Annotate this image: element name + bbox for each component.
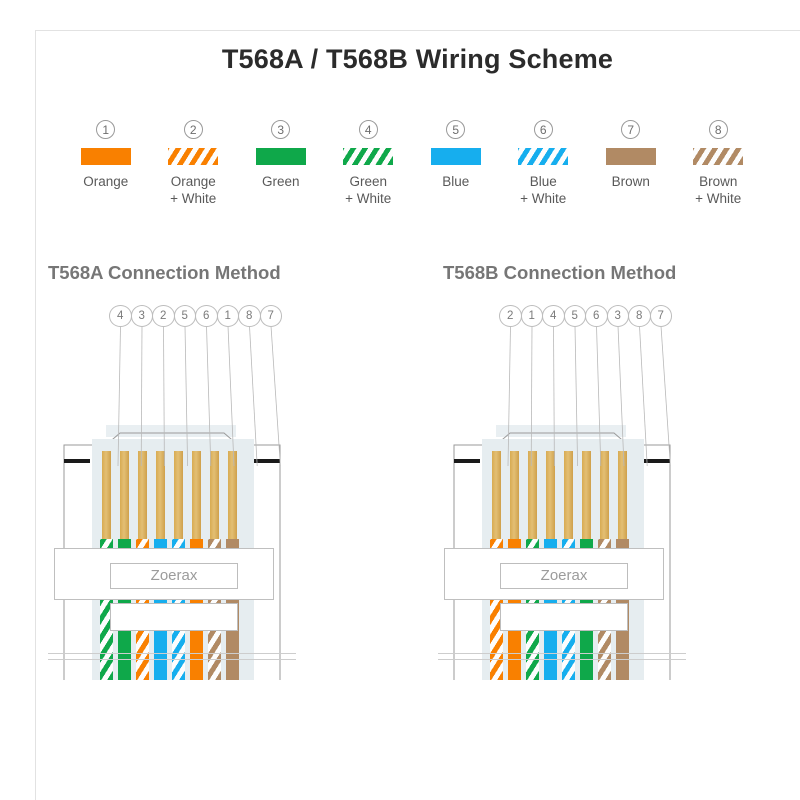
legend-item-2: 2Orange + White bbox=[150, 120, 238, 207]
color-legend: 1Orange2Orange + White3Green4Green + Whi… bbox=[62, 120, 762, 207]
legend-number-badge: 1 bbox=[96, 120, 115, 139]
legend-color-swatch bbox=[606, 148, 656, 165]
cable-sheath bbox=[500, 603, 628, 631]
legend-color-swatch bbox=[343, 148, 393, 165]
legend-item-4: 4Green + White bbox=[325, 120, 413, 207]
connector-side-marker bbox=[454, 459, 480, 463]
legend-color-swatch bbox=[431, 148, 481, 165]
legend-item-6: 6Blue + White bbox=[500, 120, 588, 207]
connector-side-marker bbox=[64, 459, 90, 463]
pin-number-badge: 3 bbox=[607, 305, 630, 327]
legend-color-swatch bbox=[256, 148, 306, 165]
cable-exit-line bbox=[438, 653, 686, 654]
pin-number-badge: 2 bbox=[499, 305, 522, 327]
legend-item-7: 7Brown bbox=[587, 120, 675, 207]
section-heading-t568a: T568A Connection Method bbox=[48, 262, 281, 284]
page-title: T568A / T568B Wiring Scheme bbox=[35, 44, 800, 75]
legend-label: Orange + White bbox=[170, 173, 216, 207]
cable-exit-line bbox=[48, 653, 296, 654]
top-border bbox=[35, 30, 800, 31]
pin-number-badge: 6 bbox=[195, 305, 218, 327]
pin-number-badge: 5 bbox=[174, 305, 197, 327]
connector-diagram-t568a: 43256187Zoerax bbox=[40, 305, 400, 795]
pin-number-badge: 5 bbox=[564, 305, 587, 327]
cable-exit-line bbox=[48, 659, 296, 660]
leader-lines bbox=[110, 326, 290, 466]
legend-number-badge: 2 bbox=[184, 120, 203, 139]
legend-number-badge: 3 bbox=[271, 120, 290, 139]
legend-label: Orange bbox=[83, 173, 128, 190]
pin-number-badge: 7 bbox=[650, 305, 673, 327]
legend-label: Green bbox=[262, 173, 300, 190]
legend-label: Blue bbox=[442, 173, 469, 190]
brand-label: Zoerax bbox=[110, 563, 238, 589]
pin-number-badge: 6 bbox=[585, 305, 608, 327]
legend-number-badge: 6 bbox=[534, 120, 553, 139]
brand-label: Zoerax bbox=[500, 563, 628, 589]
legend-label: Blue + White bbox=[520, 173, 566, 207]
pin-number-row: 43256187 bbox=[110, 305, 290, 327]
pin-number-badge: 3 bbox=[131, 305, 154, 327]
pin-number-badge: 8 bbox=[238, 305, 261, 327]
legend-label: Brown bbox=[612, 173, 650, 190]
pin-number-row: 21456387 bbox=[500, 305, 680, 327]
legend-item-8: 8Brown + White bbox=[675, 120, 763, 207]
pin-number-badge: 4 bbox=[109, 305, 132, 327]
pin-number-badge: 4 bbox=[542, 305, 565, 327]
legend-item-1: 1Orange bbox=[62, 120, 150, 207]
legend-item-3: 3Green bbox=[237, 120, 325, 207]
legend-color-swatch bbox=[81, 148, 131, 165]
cable-sheath bbox=[110, 603, 238, 631]
pin-number-badge: 8 bbox=[628, 305, 651, 327]
legend-number-badge: 5 bbox=[446, 120, 465, 139]
section-heading-t568b: T568B Connection Method bbox=[443, 262, 676, 284]
pin-number-badge: 7 bbox=[260, 305, 283, 327]
legend-number-badge: 7 bbox=[621, 120, 640, 139]
legend-color-swatch bbox=[693, 148, 743, 165]
left-border bbox=[35, 30, 36, 800]
legend-label: Green + White bbox=[345, 173, 391, 207]
diagram-canvas: T568A / T568B Wiring Scheme 1Orange2Oran… bbox=[0, 0, 800, 800]
legend-item-5: 5Blue bbox=[412, 120, 500, 207]
pin-number-badge: 1 bbox=[521, 305, 544, 327]
connector-diagram-t568b: 21456387Zoerax bbox=[430, 305, 790, 795]
legend-number-badge: 8 bbox=[709, 120, 728, 139]
pin-number-badge: 1 bbox=[217, 305, 240, 327]
pin-number-badge: 2 bbox=[152, 305, 175, 327]
legend-number-badge: 4 bbox=[359, 120, 378, 139]
legend-label: Brown + White bbox=[695, 173, 741, 207]
legend-color-swatch bbox=[518, 148, 568, 165]
leader-lines bbox=[500, 326, 680, 466]
legend-color-swatch bbox=[168, 148, 218, 165]
cable-exit-line bbox=[438, 659, 686, 660]
